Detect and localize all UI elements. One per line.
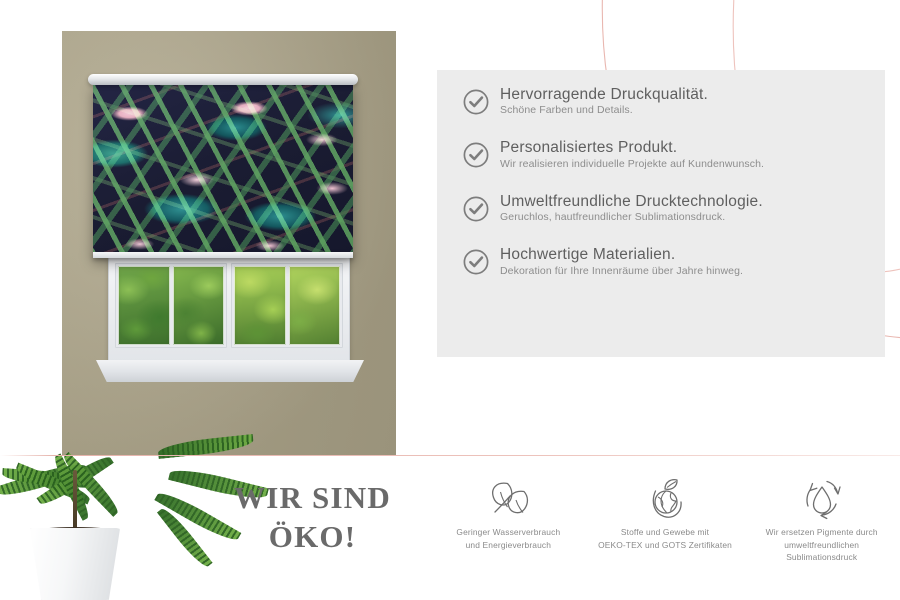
eco-benefit-item: Wir ersetzen Pigmente durch umweltfreund… bbox=[743, 470, 900, 564]
check-circle-icon bbox=[462, 141, 490, 169]
feature-title: Umweltfreundliche Drucktechnologie. bbox=[500, 193, 763, 210]
eco-benefits-list: Geringer Wasserverbrauch und Energieverb… bbox=[430, 470, 900, 564]
eco-caption-line-2: und Energieverbrauch bbox=[438, 539, 579, 552]
window-sash-right bbox=[231, 263, 343, 348]
eco-heading-line-1: WIR SIND bbox=[205, 478, 420, 517]
eco-icon-slot bbox=[430, 470, 587, 526]
roller-blind-fabric bbox=[93, 84, 353, 258]
feature-text-block: Hervorragende Druckqualität. Schöne Farb… bbox=[500, 86, 708, 117]
eco-benefit-caption: Stoffe und Gewebe mit OEKO-TEX und GOTS … bbox=[587, 526, 744, 551]
check-circle-icon bbox=[462, 88, 490, 116]
feature-text-block: Hochwertige Materialien. Dekoration für … bbox=[500, 246, 743, 277]
window-pane bbox=[173, 266, 225, 345]
section-divider bbox=[0, 455, 900, 456]
feature-title: Personalisiertes Produkt. bbox=[500, 139, 764, 156]
palm-trunk bbox=[73, 470, 77, 530]
feature-text-block: Personalisiertes Produkt. Wir realisiere… bbox=[500, 139, 764, 170]
eco-heading: WIR SIND ÖKO! bbox=[205, 478, 420, 556]
features-list: Hervorragende Druckqualität. Schöne Farb… bbox=[462, 86, 882, 300]
eco-heading-line-2: ÖKO! bbox=[205, 517, 420, 556]
window-sash-left bbox=[115, 263, 227, 348]
feature-item: Umweltfreundliche Drucktechnologie. Geru… bbox=[462, 193, 882, 224]
feature-subtitle: Wir realisieren individuelle Projekte au… bbox=[500, 158, 764, 171]
leaves-icon bbox=[482, 474, 534, 522]
feature-subtitle: Schöne Farben und Details. bbox=[500, 104, 708, 117]
eco-benefit-caption: Wir ersetzen Pigmente durch umweltfreund… bbox=[743, 526, 900, 564]
feature-item: Hochwertige Materialien. Dekoration für … bbox=[462, 246, 882, 277]
window-pane bbox=[118, 266, 170, 345]
roller-blind-tube bbox=[88, 74, 358, 85]
eco-benefit-item: Geringer Wasserverbrauch und Energieverb… bbox=[430, 470, 587, 564]
eco-caption-line-1: Wir ersetzen Pigmente durch bbox=[751, 526, 892, 539]
eco-caption-line-3: Sublimationsdruck bbox=[751, 551, 892, 564]
eco-caption-line-2: OEKO-TEX und GOTS Zertifikaten bbox=[595, 539, 736, 552]
roller-blind-bottom-bar bbox=[93, 252, 353, 258]
feature-item: Hervorragende Druckqualität. Schöne Farb… bbox=[462, 86, 882, 117]
product-scene bbox=[0, 0, 396, 456]
promo-banner: Hervorragende Druckqualität. Schöne Farb… bbox=[0, 0, 900, 600]
feature-title: Hervorragende Druckqualität. bbox=[500, 86, 708, 103]
feature-title: Hochwertige Materialien. bbox=[500, 246, 743, 263]
eco-benefit-item: Stoffe und Gewebe mit OEKO-TEX und GOTS … bbox=[587, 470, 744, 564]
flower-pot bbox=[28, 528, 122, 600]
feature-text-block: Umweltfreundliche Drucktechnologie. Geru… bbox=[500, 193, 763, 224]
check-circle-icon bbox=[462, 195, 490, 223]
feature-subtitle: Geruchlos, hautfreundlicher Sublimations… bbox=[500, 211, 763, 224]
eco-caption-line-2: umweltfreundlichen bbox=[751, 539, 892, 552]
eco-caption-line-1: Stoffe und Gewebe mit bbox=[595, 526, 736, 539]
eco-icon-slot bbox=[743, 470, 900, 526]
window-pane bbox=[289, 266, 341, 345]
feature-subtitle: Dekoration für Ihre Innenräume über Jahr… bbox=[500, 265, 743, 278]
globe-leaf-icon bbox=[640, 473, 690, 523]
eco-benefit-caption: Geringer Wasserverbrauch und Energieverb… bbox=[430, 526, 587, 551]
water-drop-recycle-icon bbox=[796, 473, 848, 523]
window-pane bbox=[234, 266, 286, 345]
window-glass-area bbox=[115, 263, 343, 348]
window-frame bbox=[108, 257, 350, 363]
eco-icon-slot bbox=[587, 470, 744, 526]
check-circle-icon bbox=[462, 248, 490, 276]
feature-item: Personalisiertes Produkt. Wir realisiere… bbox=[462, 139, 882, 170]
window-sill bbox=[96, 360, 364, 382]
eco-caption-line-1: Geringer Wasserverbrauch bbox=[438, 526, 579, 539]
